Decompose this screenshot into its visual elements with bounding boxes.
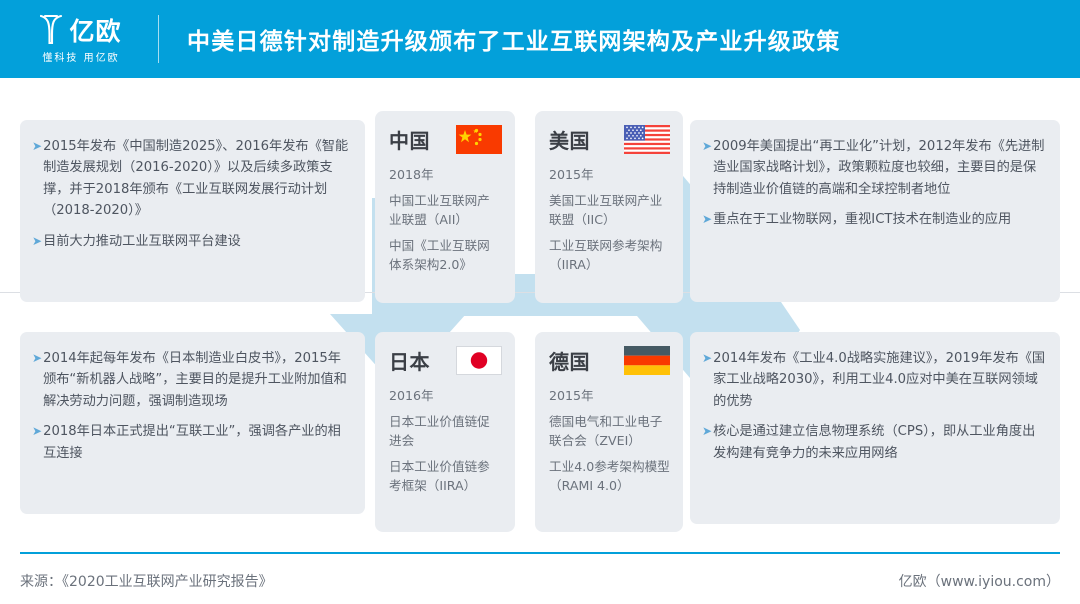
country-card-japan: 日本 2016年 日本工业价值链促进会 日本工业价值链参考框架（IIRA） xyxy=(375,332,515,532)
bullet-item: ➤ 2018年日本正式提出“互联工业”，强调各产业的相互连接 xyxy=(32,421,351,464)
panel-china-policy: ➤ 2015年发布《中国制造2025》、2016年发布《智能制造发展规划（201… xyxy=(20,120,365,302)
arrow-bullet-icon: ➤ xyxy=(32,136,42,156)
bullet-text: 2014年发布《工业4.0战略实施建议》，2019年发布《国家工业战略2030》… xyxy=(713,348,1046,412)
bullet-text: 2009年美国提出“再工业化”计划，2012年发布《先进制造业国家战略计划》，政… xyxy=(713,136,1046,200)
usa-flag-icon xyxy=(624,125,670,154)
arrow-bullet-icon: ➤ xyxy=(32,421,42,441)
country-name: 中国 xyxy=(389,125,430,154)
arrow-bullet-icon: ➤ xyxy=(702,209,712,229)
bullet-text: 核心是通过建立信息物理系统（CPS），即从工业角度出发构建有竞争力的未来应用网络 xyxy=(713,421,1046,464)
page-header: 亿欧 懂科技 用亿欧 中美日德针对制造升级颁布了工业互联网架构及产业升级政策 xyxy=(0,0,1080,78)
bullet-item: ➤ 2014年起每年发布《日本制造业白皮书》，2015年颁布“新机器人战略”，主… xyxy=(32,348,351,412)
logo-tagline: 懂科技 用亿欧 xyxy=(42,49,119,64)
brand-label: 亿欧（www.iyiou.com） xyxy=(899,571,1060,591)
card-organization: 美国工业互联网产业联盟（IIC） xyxy=(549,192,670,230)
footer-divider xyxy=(20,552,1060,554)
card-header: 中国 xyxy=(389,125,502,154)
bullet-item: ➤ 重点在于工业物联网，重视ICT技术在制造业的应用 xyxy=(702,209,1046,230)
bullet-text: 2014年起每年发布《日本制造业白皮书》，2015年颁布“新机器人战略”，主要目… xyxy=(43,348,351,412)
bullet-text: 重点在于工业物联网，重视ICT技术在制造业的应用 xyxy=(713,209,1046,230)
arrow-bullet-icon: ➤ xyxy=(702,421,712,441)
content-stage: ➤ 2015年发布《中国制造2025》、2016年发布《智能制造发展规划（201… xyxy=(0,78,1080,538)
germany-flag-icon xyxy=(624,346,670,375)
bullet-text: 2015年发布《中国制造2025》、2016年发布《智能制造发展规划（2016-… xyxy=(43,136,351,222)
card-framework: 工业4.0参考架构模型（RAMI 4.0） xyxy=(549,458,670,496)
country-card-germany: 德国 2015年 德国电气和工业电子联合会（ZVEI） 工业4.0参考架构模型（… xyxy=(535,332,683,532)
logo-wordmark: 亿欧 xyxy=(69,19,121,44)
bullet-item: ➤ 2014年发布《工业4.0战略实施建议》，2019年发布《国家工业战略203… xyxy=(702,348,1046,412)
header-divider xyxy=(158,15,159,63)
bullet-item: ➤ 核心是通过建立信息物理系统（CPS），即从工业角度出发构建有竞争力的未来应用… xyxy=(702,421,1046,464)
page-title: 中美日德针对制造升级颁布了工业互联网架构及产业升级政策 xyxy=(187,22,840,56)
card-framework: 中国《工业互联网体系架构2.0》 xyxy=(389,237,502,275)
bullet-text: 目前大力推动工业互联网平台建设 xyxy=(43,231,351,252)
card-year: 2018年 xyxy=(389,166,502,185)
country-name: 日本 xyxy=(389,346,430,375)
card-year: 2015年 xyxy=(549,166,670,185)
arrow-bullet-icon: ➤ xyxy=(32,231,42,251)
card-year: 2015年 xyxy=(549,387,670,406)
arrow-bullet-icon: ➤ xyxy=(702,348,712,368)
card-framework: 日本工业价值链参考框架（IIRA） xyxy=(389,458,502,496)
country-card-usa: 美国 xyxy=(535,111,683,303)
country-card-china: 中国 2018年 中国工业互联网产业联盟（AII） 中国《工业互联网体系架构2.… xyxy=(375,111,515,303)
card-header: 日本 xyxy=(389,346,502,375)
card-organization: 日本工业价值链促进会 xyxy=(389,413,502,451)
card-header: 德国 xyxy=(549,346,670,375)
card-header: 美国 xyxy=(549,125,670,154)
card-year: 2016年 xyxy=(389,387,502,406)
japan-flag-icon xyxy=(456,346,502,375)
arrow-bullet-icon: ➤ xyxy=(702,136,712,156)
card-framework: 工业互联网参考架构（IIRA） xyxy=(549,237,670,275)
panel-germany-policy: ➤ 2014年发布《工业4.0战略实施建议》，2019年发布《国家工业战略203… xyxy=(690,332,1060,524)
panel-japan-policy: ➤ 2014年起每年发布《日本制造业白皮书》，2015年颁布“新机器人战略”，主… xyxy=(20,332,365,514)
panel-usa-policy: ➤ 2009年美国提出“再工业化”计划，2012年发布《先进制造业国家战略计划》… xyxy=(690,120,1060,302)
bullet-text: 2018年日本正式提出“互联工业”，强调各产业的相互连接 xyxy=(43,421,351,464)
bullet-item: ➤ 目前大力推动工业互联网平台建设 xyxy=(32,231,351,252)
card-organization: 德国电气和工业电子联合会（ZVEI） xyxy=(549,413,670,451)
card-organization: 中国工业互联网产业联盟（AII） xyxy=(389,192,502,230)
country-name: 美国 xyxy=(549,125,590,154)
page-footer: 来源：《2020工业互联网产业研究报告》 亿欧（www.iyiou.com） xyxy=(20,566,1060,596)
brand-logo: 亿欧 懂科技 用亿欧 xyxy=(0,14,156,64)
yiou-leaf-icon xyxy=(40,14,66,44)
source-label: 来源：《2020工业互联网产业研究报告》 xyxy=(20,571,273,591)
bullet-item: ➤ 2015年发布《中国制造2025》、2016年发布《智能制造发展规划（201… xyxy=(32,136,351,222)
china-flag-icon xyxy=(456,125,502,154)
country-name: 德国 xyxy=(549,346,590,375)
bullet-item: ➤ 2009年美国提出“再工业化”计划，2012年发布《先进制造业国家战略计划》… xyxy=(702,136,1046,200)
logo-row: 亿欧 xyxy=(40,14,121,44)
arrow-bullet-icon: ➤ xyxy=(32,348,42,368)
